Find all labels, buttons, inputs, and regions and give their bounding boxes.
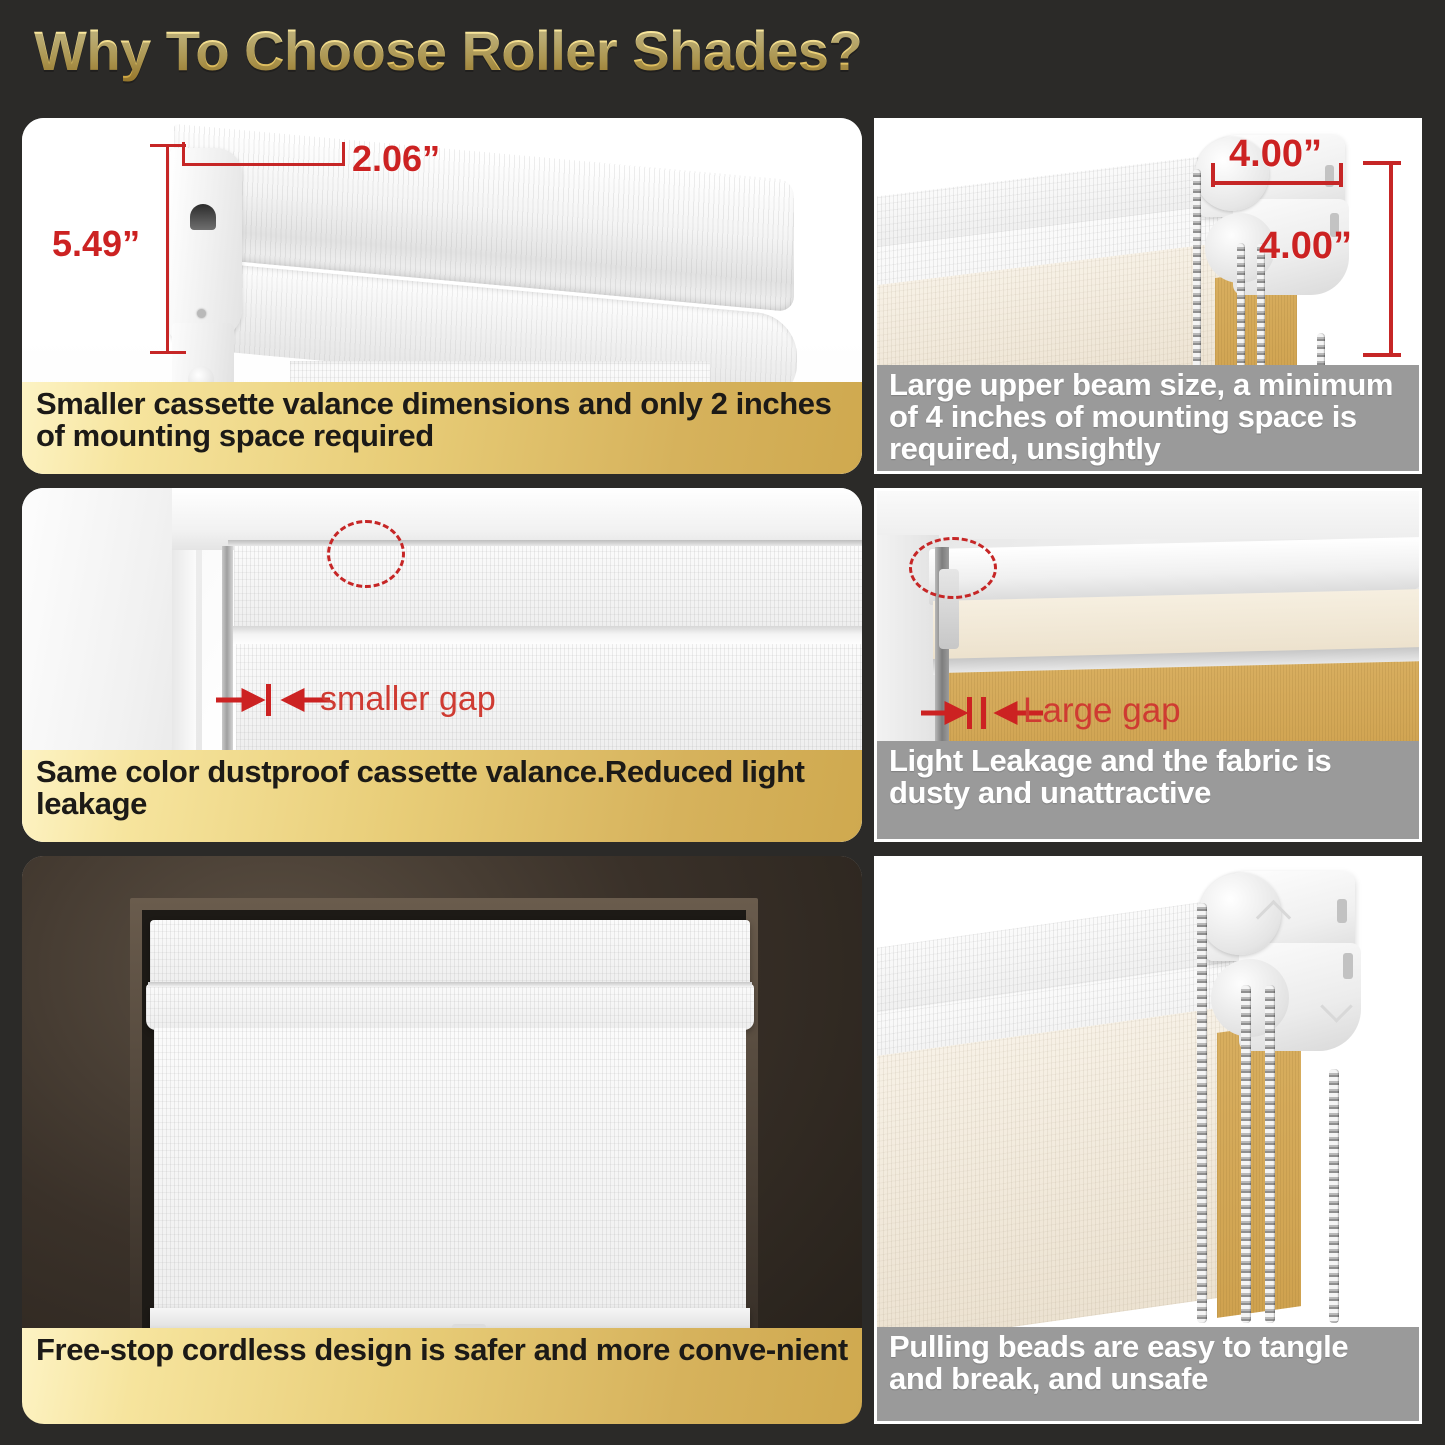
gap-label: Large gap bbox=[1023, 691, 1181, 731]
bead-chain bbox=[1193, 169, 1201, 395]
shade-fabric bbox=[154, 1028, 746, 1326]
caption-bar-large-gap: Light Leakage and the fabric is dusty an… bbox=[877, 741, 1419, 839]
panel-large-upper-beam: 4.00” 4.00” Large upper beam size, a min… bbox=[874, 118, 1422, 474]
dimension-tick-top bbox=[1363, 161, 1401, 165]
dimension-tick-left bbox=[1211, 163, 1215, 187]
dimension-tick-bottom bbox=[150, 351, 186, 354]
panel-smaller-gap: smaller gap Same color dustproof cassett… bbox=[22, 488, 862, 842]
caption-bar-cordless-window: Free-stop cordless design is safer and m… bbox=[22, 1328, 862, 1424]
panel-cassette-dimensions: 2.06” 5.49” Smaller cassette valance dim… bbox=[22, 118, 862, 474]
highlight-ellipse-icon bbox=[909, 537, 997, 599]
caption-bar-cassette-dimensions: Smaller cassette valance dimensions and … bbox=[22, 382, 862, 474]
panel-pulling-beads: Pulling beads are easy to tangle and bre… bbox=[874, 856, 1422, 1424]
caption-bar-large-upper-beam: Large upper beam size, a minimum of 4 in… bbox=[877, 365, 1419, 471]
gap-label: smaller gap bbox=[320, 680, 496, 719]
dimension-line-width bbox=[182, 163, 344, 166]
caption-text: Pulling beads are easy to tangle and bre… bbox=[889, 1331, 1409, 1395]
dimension-tick-right bbox=[342, 142, 345, 166]
page-title: Why To Choose Roller Shades? bbox=[34, 18, 862, 83]
caption-text: Smaller cassette valance dimensions and … bbox=[36, 388, 848, 452]
dimension-label-height: 4.00” bbox=[1259, 225, 1352, 268]
dimension-tick-top bbox=[150, 144, 186, 147]
dimension-label-width: 4.00” bbox=[1229, 133, 1322, 176]
caption-bar-smaller-gap: Same color dustproof cassette valance.Re… bbox=[22, 750, 862, 842]
bead-chain bbox=[1197, 903, 1207, 1323]
shade-fabric bbox=[877, 1004, 1245, 1348]
dimension-label-width: 2.06” bbox=[352, 138, 440, 180]
dimension-line-height bbox=[1389, 161, 1393, 357]
panel-cordless-window: Free-stop cordless design is safer and m… bbox=[22, 856, 862, 1424]
dimension-line-width bbox=[1211, 181, 1343, 185]
bead-chain bbox=[1265, 985, 1275, 1323]
dimension-line-height bbox=[166, 144, 169, 354]
dimension-tick-right bbox=[1339, 163, 1343, 187]
bead-chain bbox=[1329, 1069, 1339, 1323]
caption-text: Light Leakage and the fabric is dusty an… bbox=[889, 745, 1409, 809]
panel-large-gap: Large gap Light Leakage and the fabric i… bbox=[874, 488, 1422, 842]
highlight-ellipse-icon bbox=[327, 520, 405, 588]
caption-text: Free-stop cordless design is safer and m… bbox=[36, 1334, 848, 1366]
bead-chain bbox=[1241, 985, 1251, 1323]
dimension-tick-bottom bbox=[1363, 353, 1401, 357]
caption-text: Large upper beam size, a minimum of 4 in… bbox=[889, 369, 1409, 466]
dimension-label-height: 5.49” bbox=[52, 223, 140, 265]
cassette-valance bbox=[150, 920, 750, 988]
gap-arrows-icon bbox=[214, 680, 334, 720]
caption-bar-pulling-beads: Pulling beads are easy to tangle and bre… bbox=[877, 1327, 1419, 1421]
caption-text: Same color dustproof cassette valance.Re… bbox=[36, 756, 848, 820]
